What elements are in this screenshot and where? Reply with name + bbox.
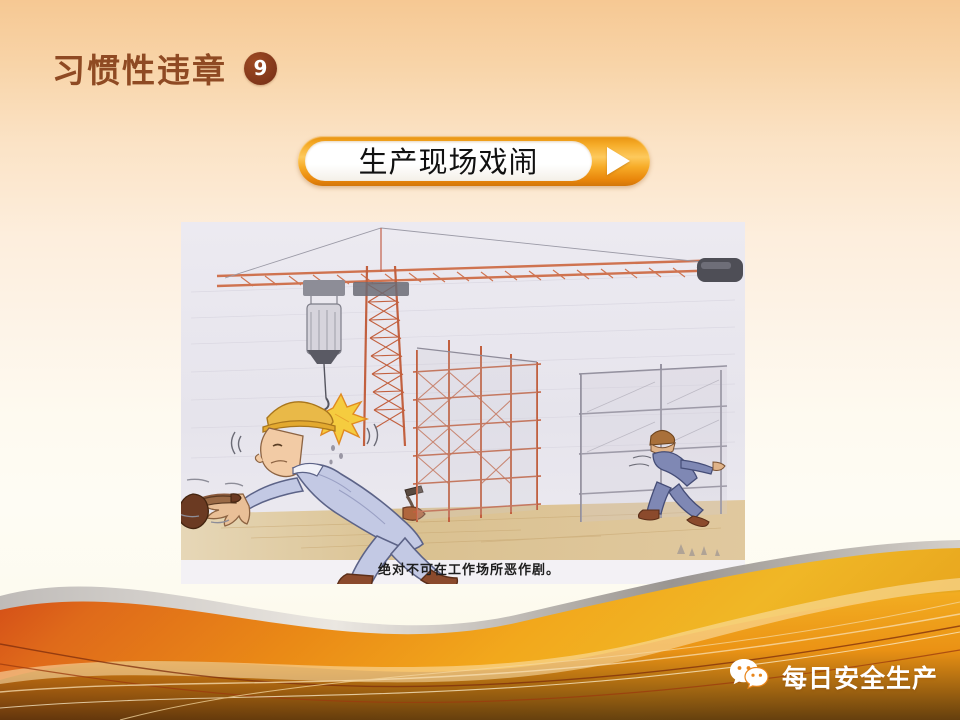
page-title: 习惯性违章 9 — [52, 44, 277, 92]
wechat-account-name: 每日安全生产 — [782, 659, 938, 695]
status-badge: 9 — [244, 52, 277, 85]
wechat-icon — [729, 657, 771, 696]
slide-canvas: 习惯性违章 9 生产现场戏闹 — [0, 0, 960, 720]
section-banner-inner: 生产现场戏闹 — [305, 141, 592, 181]
wechat-bubbles-icon — [729, 657, 771, 691]
section-banner[interactable]: 生产现场戏闹 — [298, 136, 650, 186]
page-title-text: 习惯性违章 — [52, 44, 227, 92]
section-banner-label: 生产现场戏闹 — [358, 139, 538, 181]
play-triangle-icon — [607, 147, 630, 175]
play-arrow-icon[interactable] — [592, 141, 644, 181]
wechat-watermark: 每日安全生产 — [729, 657, 938, 696]
crane-counterweight — [697, 258, 743, 282]
scaffolding-center — [413, 340, 541, 522]
